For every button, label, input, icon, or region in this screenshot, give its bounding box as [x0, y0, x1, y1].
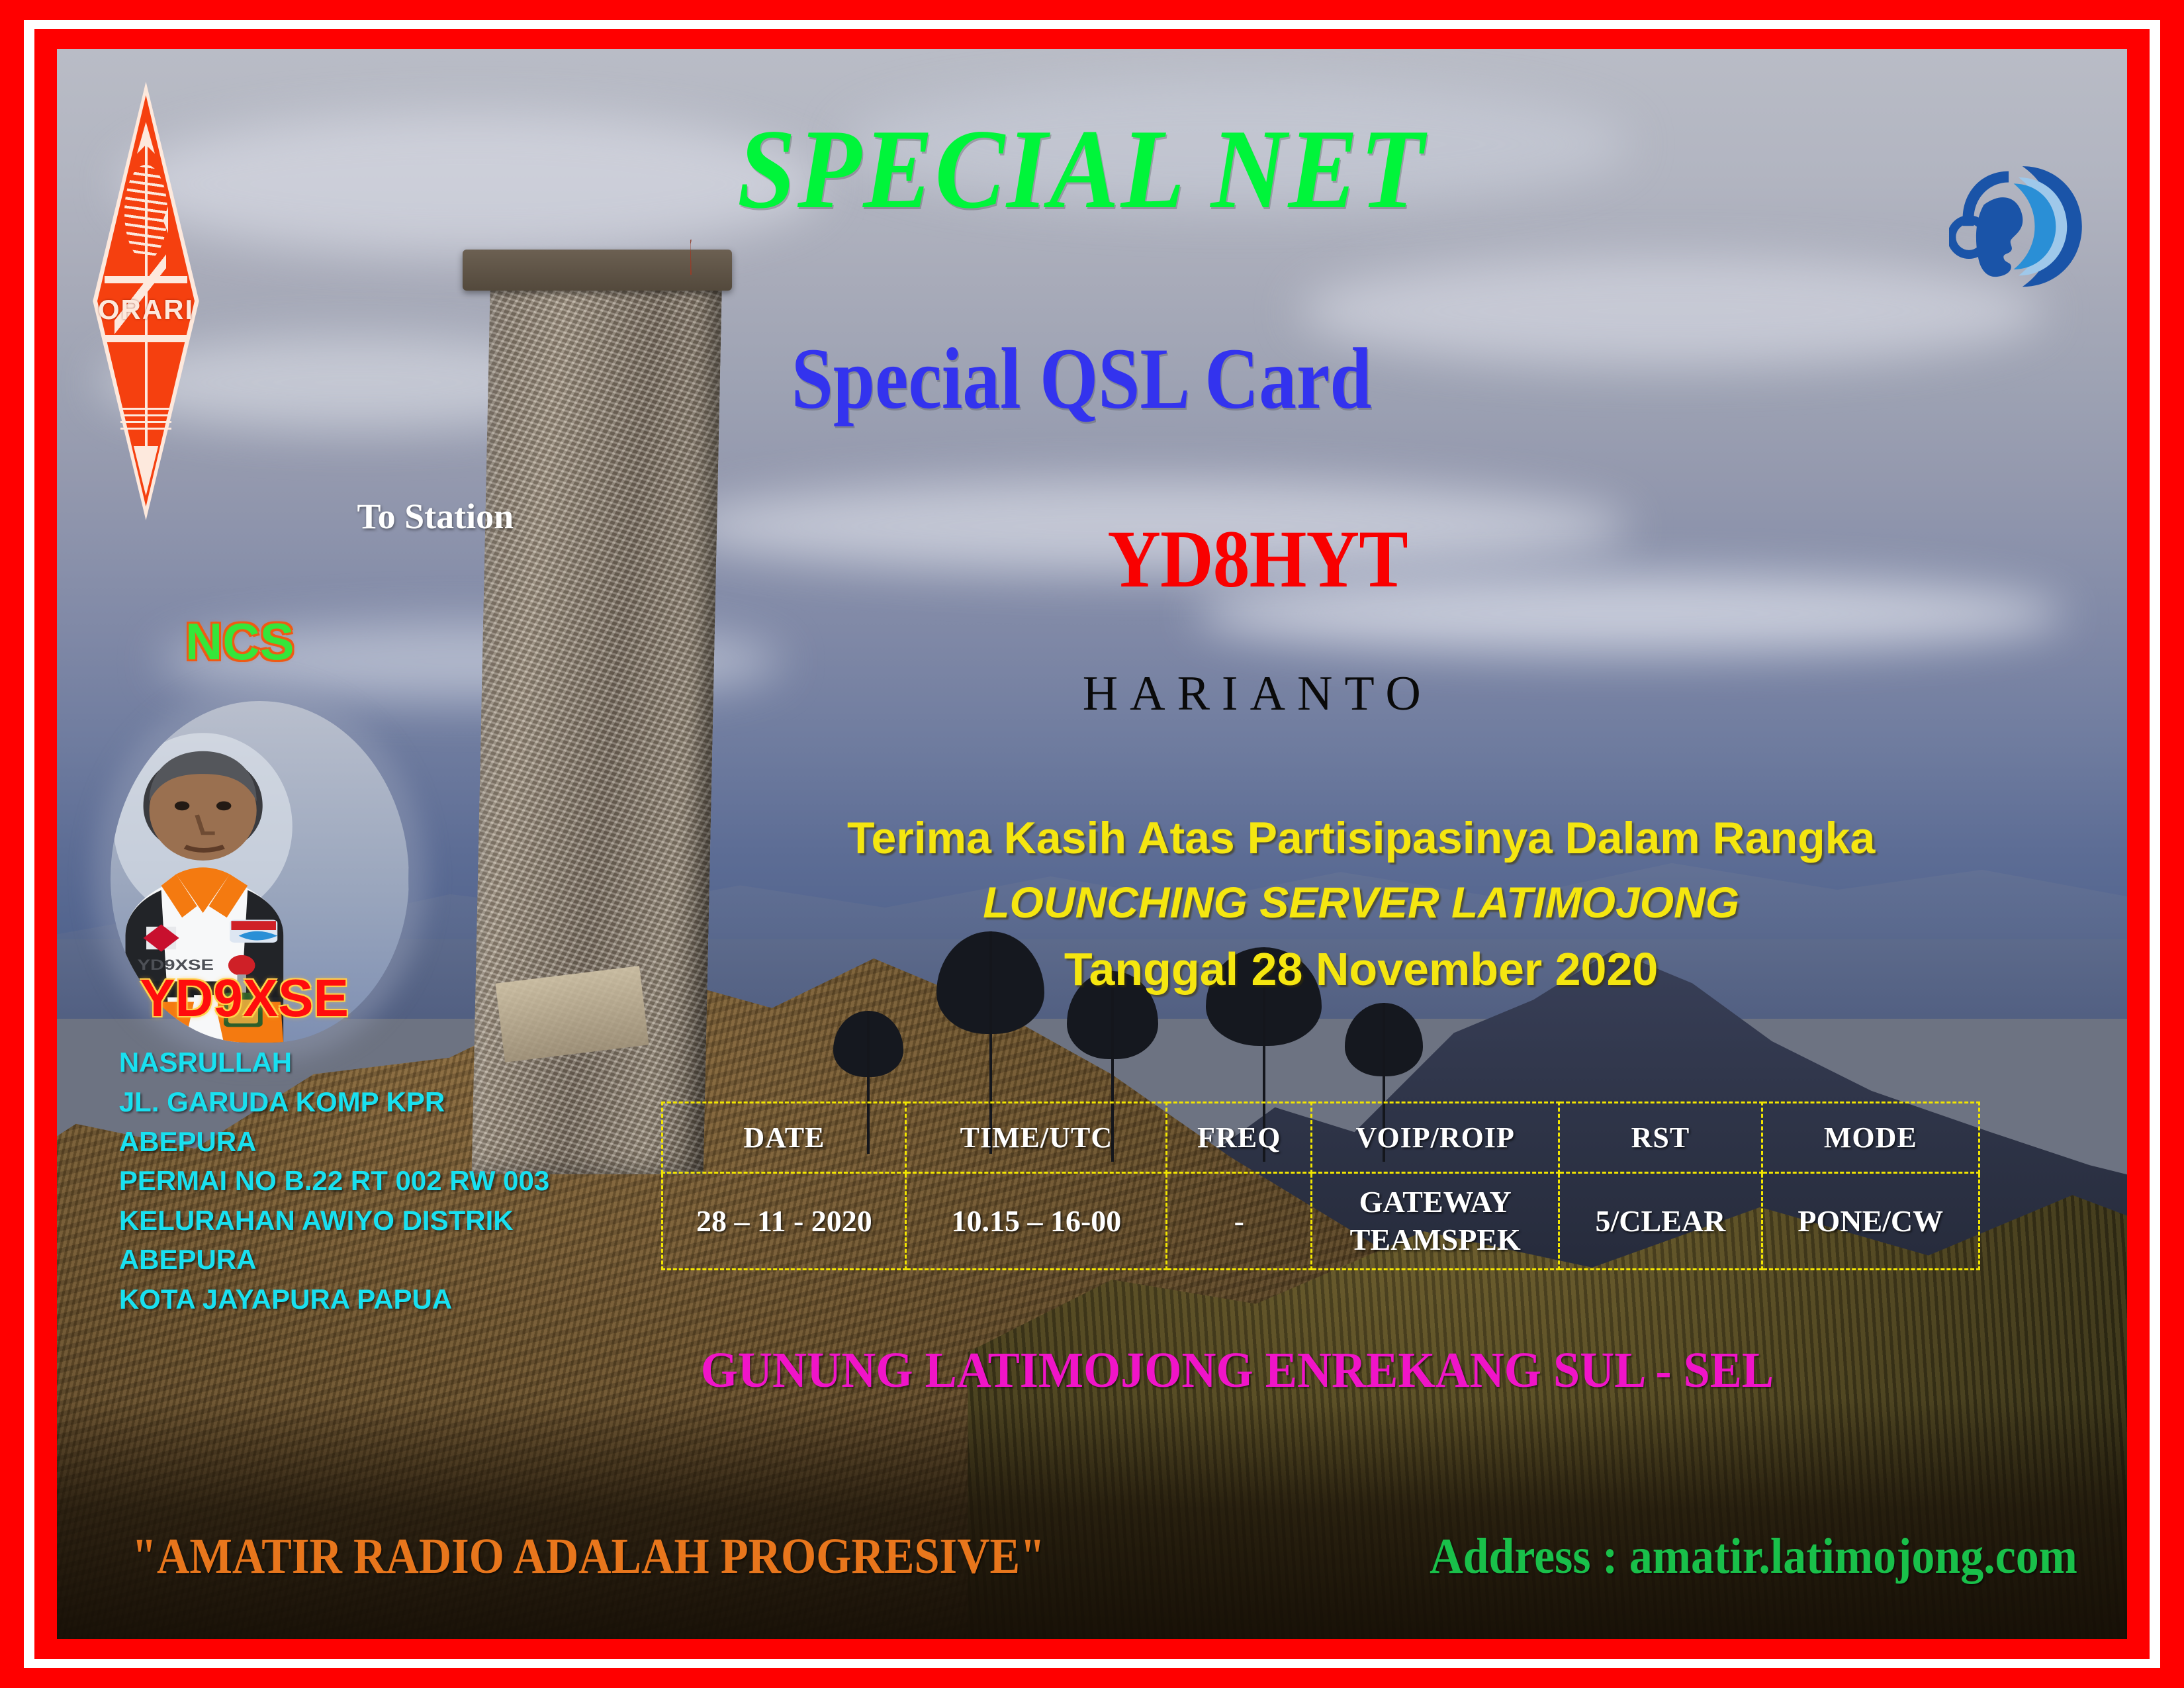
cell-time: 10.15 – 16-00: [906, 1172, 1167, 1269]
ncs-label: NCS: [185, 612, 295, 672]
contact-address: Address : amatir.latimojong.com: [1430, 1528, 2077, 1585]
headphone-operator-logo: [1949, 87, 2085, 365]
address-line: KELURAHAN AWIYO DISTRIK: [119, 1201, 657, 1241]
column-header-mode: MODE: [1762, 1103, 1979, 1173]
orari-logo: ORARI: [90, 74, 202, 528]
page-title: SPECIAL NET: [529, 113, 1634, 226]
operator-name: HARIANTO: [885, 669, 1630, 718]
column-header-time: TIME/UTC: [906, 1103, 1167, 1173]
column-header-rst: RST: [1559, 1103, 1762, 1173]
cell-freq: -: [1167, 1172, 1312, 1269]
monument-twig: [690, 240, 765, 275]
orari-ground-symbol-icon: [120, 408, 172, 449]
foreground-shadow: [57, 1401, 2127, 1639]
column-header-freq: FREQ: [1167, 1103, 1312, 1173]
ncs-callsign: YD9XSE: [140, 968, 349, 1029]
cell-mode: PONE/CW: [1762, 1172, 1979, 1269]
cell-voip: GATEWAY TEAMSPEK: [1312, 1172, 1559, 1269]
address-line: KOTA JAYAPURA PAPUA: [119, 1280, 657, 1319]
event-date-line: Tanggal 28 November 2020: [740, 946, 1982, 992]
station-callsign: YD8HYT: [922, 518, 1592, 600]
address-line: PERMAI NO B.22 RT 002 RW 003: [119, 1161, 657, 1201]
headphone-operator-icon: [1949, 87, 2085, 365]
column-header-voip: VOIP/ROIP: [1312, 1103, 1559, 1173]
event-line: LOUNCHING SERVER LATIMOJONG: [740, 880, 1982, 924]
table-row: 28 – 11 - 2020 10.15 – 16-00 - GATEWAY T…: [662, 1172, 1979, 1269]
ncs-address-block: NASRULLAH JL. GARUDA KOMP KPR ABEPURA PE…: [119, 1043, 657, 1319]
qso-table: DATE TIME/UTC FREQ VOIP/ROIP RST MODE 28…: [661, 1102, 1980, 1270]
address-line: ABEPURA: [119, 1240, 657, 1280]
motto-text: "AMATIR RADIO ADALAH PROGRESIVE": [132, 1528, 1045, 1585]
to-station-label: To Station: [357, 496, 514, 537]
address-line: NASRULLAH: [119, 1043, 657, 1082]
cell-date: 28 – 11 - 2020: [662, 1172, 906, 1269]
cell-rst: 5/CLEAR: [1559, 1172, 1762, 1269]
table-header-row: DATE TIME/UTC FREQ VOIP/ROIP RST MODE: [662, 1103, 1979, 1173]
orari-wordmark: ORARI: [90, 283, 202, 337]
page-subtitle: Special QSL Card: [565, 335, 1598, 422]
card-background-photo: ORARI SPECIAL NET Special QSL Card To St…: [57, 49, 2127, 1639]
column-header-date: DATE: [662, 1103, 906, 1173]
location-line: GUNUNG LATIMOJONG ENREKANG SUL - SEL: [647, 1342, 1827, 1399]
address-line: ABEPURA: [119, 1122, 657, 1162]
qsl-card: ORARI SPECIAL NET Special QSL Card To St…: [0, 0, 2184, 1688]
address-line: JL. GARUDA KOMP KPR: [119, 1082, 657, 1122]
thanks-line: Terima Kasih Atas Partisipasinya Dalam R…: [740, 816, 1982, 861]
